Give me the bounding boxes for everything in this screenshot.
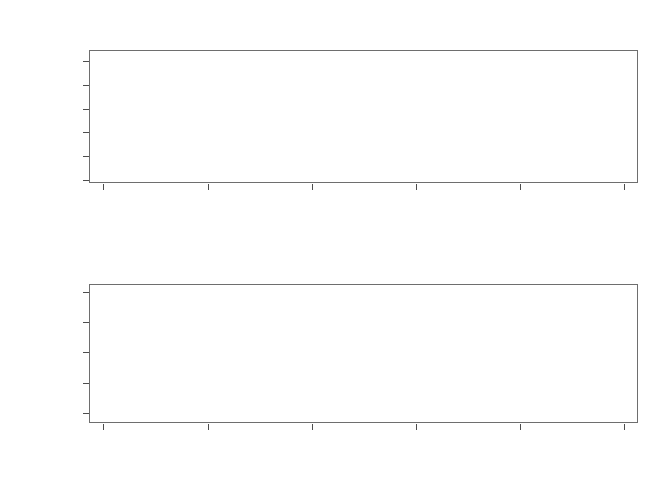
top-xtick-mark-5 <box>624 184 625 190</box>
bottom-plot-svg <box>90 285 638 423</box>
bottom-xtick-mark-1 <box>208 424 209 430</box>
bottom-xtick-mark-2 <box>312 424 313 430</box>
top-xtick-mark-2 <box>312 184 313 190</box>
top-xtick-mark-4 <box>520 184 521 190</box>
top-plot-frame <box>89 50 638 183</box>
bottom-xtick-mark-4 <box>520 424 521 430</box>
bottom-plot-frame <box>89 284 638 423</box>
bottom-xtick-mark-0 <box>103 424 104 430</box>
top-plot-svg <box>90 51 638 183</box>
figure-canvas <box>0 0 672 480</box>
bottom-xtick-mark-3 <box>416 424 417 430</box>
top-xtick-mark-0 <box>103 184 104 190</box>
bottom-xtick-mark-5 <box>624 424 625 430</box>
top-xtick-mark-3 <box>416 184 417 190</box>
top-xtick-mark-1 <box>208 184 209 190</box>
